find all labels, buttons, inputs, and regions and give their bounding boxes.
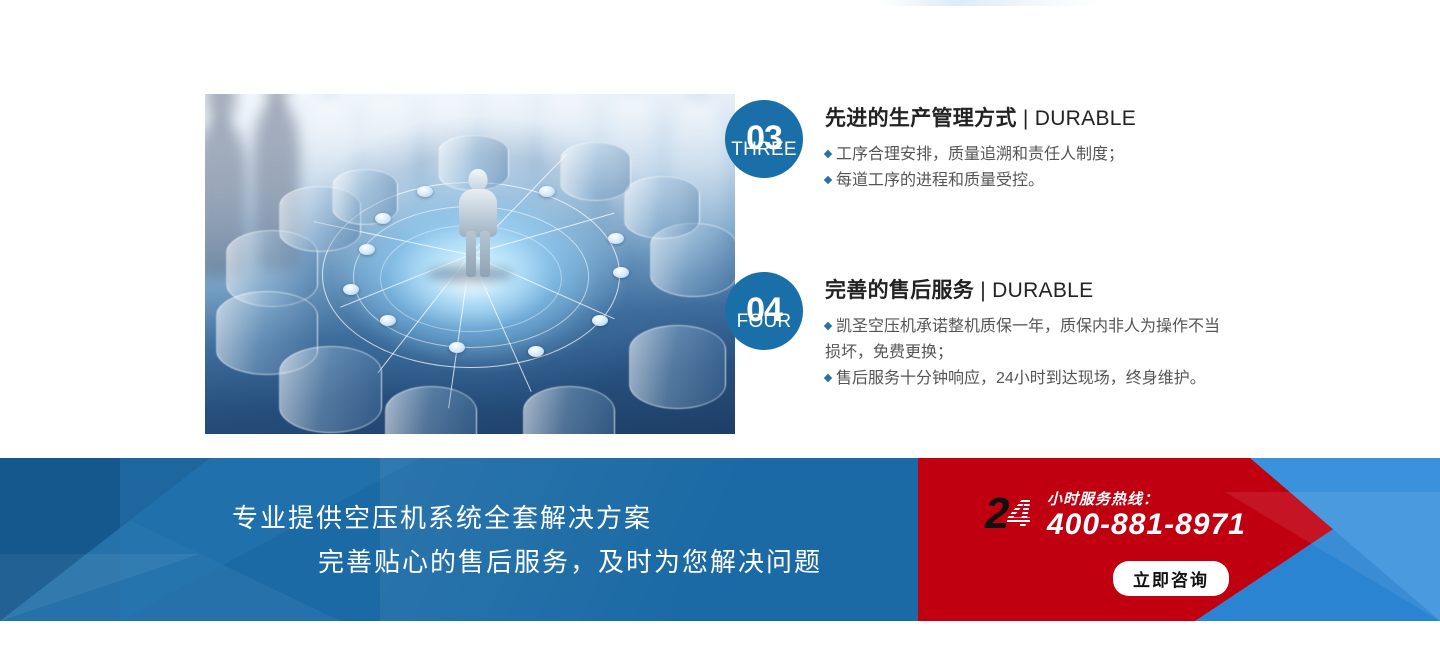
hub-ring [385, 386, 477, 434]
node-dot [359, 244, 375, 255]
node-dot [539, 186, 555, 197]
feature-title-sep: | [1017, 107, 1035, 130]
hotline-digit-4: 4 [1007, 489, 1029, 538]
feature-badge-04: 04 FOUR [725, 272, 803, 350]
network-concept-image [205, 94, 735, 434]
feature-title-cn: 先进的生产管理方式 [825, 107, 1017, 130]
hub-ring [560, 142, 631, 202]
feature-bullet: 每道工序的进程和质量受控。 [825, 168, 1136, 194]
feature-bullet-text: 售后服务十分钟响应，24小时到达现场，终身维护。 [836, 370, 1206, 387]
features-section: 03 THREE 先进的生产管理方式 | DURABLE 工序合理安排，质量追溯… [0, 0, 1440, 458]
feature-item-03: 03 THREE 先进的生产管理方式 | DURABLE 工序合理安排，质量追溯… [725, 100, 1136, 194]
hotline-24-mark: 24 [985, 492, 1030, 536]
diamond-bullet-icon [824, 374, 832, 382]
feature-badge-03: 03 THREE [725, 100, 803, 178]
hub-ring [279, 346, 382, 433]
diamond-bullet-icon [824, 150, 832, 158]
feature-bullet-text: 工序合理安排，质量追溯和责任人制度； [836, 146, 1124, 163]
feature-title-03: 先进的生产管理方式 | DURABLE [825, 102, 1136, 132]
cta-banner: 专业提供空压机系统全套解决方案 完善贴心的售后服务，及时为您解决问题 24 小时… [0, 458, 1440, 621]
diamond-bullet-icon [824, 176, 832, 184]
banner-slogan: 专业提供空压机系统全套解决方案 完善贴心的售后服务，及时为您解决问题 [0, 458, 920, 621]
person-figure [458, 169, 498, 277]
node-dot [380, 315, 396, 326]
node-dot [417, 186, 433, 197]
feature-item-04: 04 FOUR 完善的售后服务 | DURABLE 凯圣空压机承诺整机质保一年，… [725, 272, 1227, 392]
badge-word: FOUR [737, 312, 792, 331]
feature-bullet: 工序合理安排，质量追溯和责任人制度； [825, 142, 1136, 168]
badge-word: THREE [731, 140, 796, 159]
feature-text-03: 先进的生产管理方式 | DURABLE 工序合理安排，质量追溯和责任人制度； 每… [825, 100, 1136, 194]
diamond-bullet-icon [824, 322, 832, 330]
feature-bullet: 售后服务十分钟响应，24小时到达现场，终身维护。 [825, 366, 1227, 392]
node-dot [528, 346, 544, 357]
node-dot [449, 342, 465, 353]
hub-ring [624, 176, 700, 239]
hotline-block: 24 小时服务热线： 400-881-8971 立即咨询 [985, 482, 1285, 602]
feature-title-04: 完善的售后服务 | DURABLE [825, 274, 1227, 304]
hotline-digit-2: 2 [985, 489, 1007, 538]
hub-ring [523, 386, 615, 434]
hotline-label: 小时服务热线： [1047, 488, 1159, 509]
feature-bullet-text: 每道工序的进程和质量受控。 [836, 172, 1044, 189]
node-dot [592, 315, 608, 326]
feature-text-04: 完善的售后服务 | DURABLE 凯圣空压机承诺整机质保一年，质保内非人为操作… [825, 272, 1227, 392]
feature-title-en: DURABLE [1035, 107, 1136, 130]
hotline-number: 400-881-8971 [1047, 508, 1246, 542]
banner-slogan-line-2: 完善贴心的售后服务，及时为您解决问题 [0, 540, 920, 584]
node-dot [375, 213, 391, 224]
feature-title-cn: 完善的售后服务 [825, 279, 974, 302]
feature-bullet-text: 凯圣空压机承诺整机质保一年，质保内非人为操作不当损坏，免费更换； [825, 318, 1220, 361]
feature-title-sep: | [974, 279, 992, 302]
feature-bullet: 凯圣空压机承诺整机质保一年，质保内非人为操作不当损坏，免费更换； [825, 314, 1227, 366]
feature-title-en: DURABLE [992, 279, 1093, 302]
consult-now-button[interactable]: 立即咨询 [1113, 561, 1229, 596]
hub-ring [629, 325, 726, 409]
banner-slogan-line-1: 专业提供空压机系统全套解决方案 [0, 496, 920, 540]
